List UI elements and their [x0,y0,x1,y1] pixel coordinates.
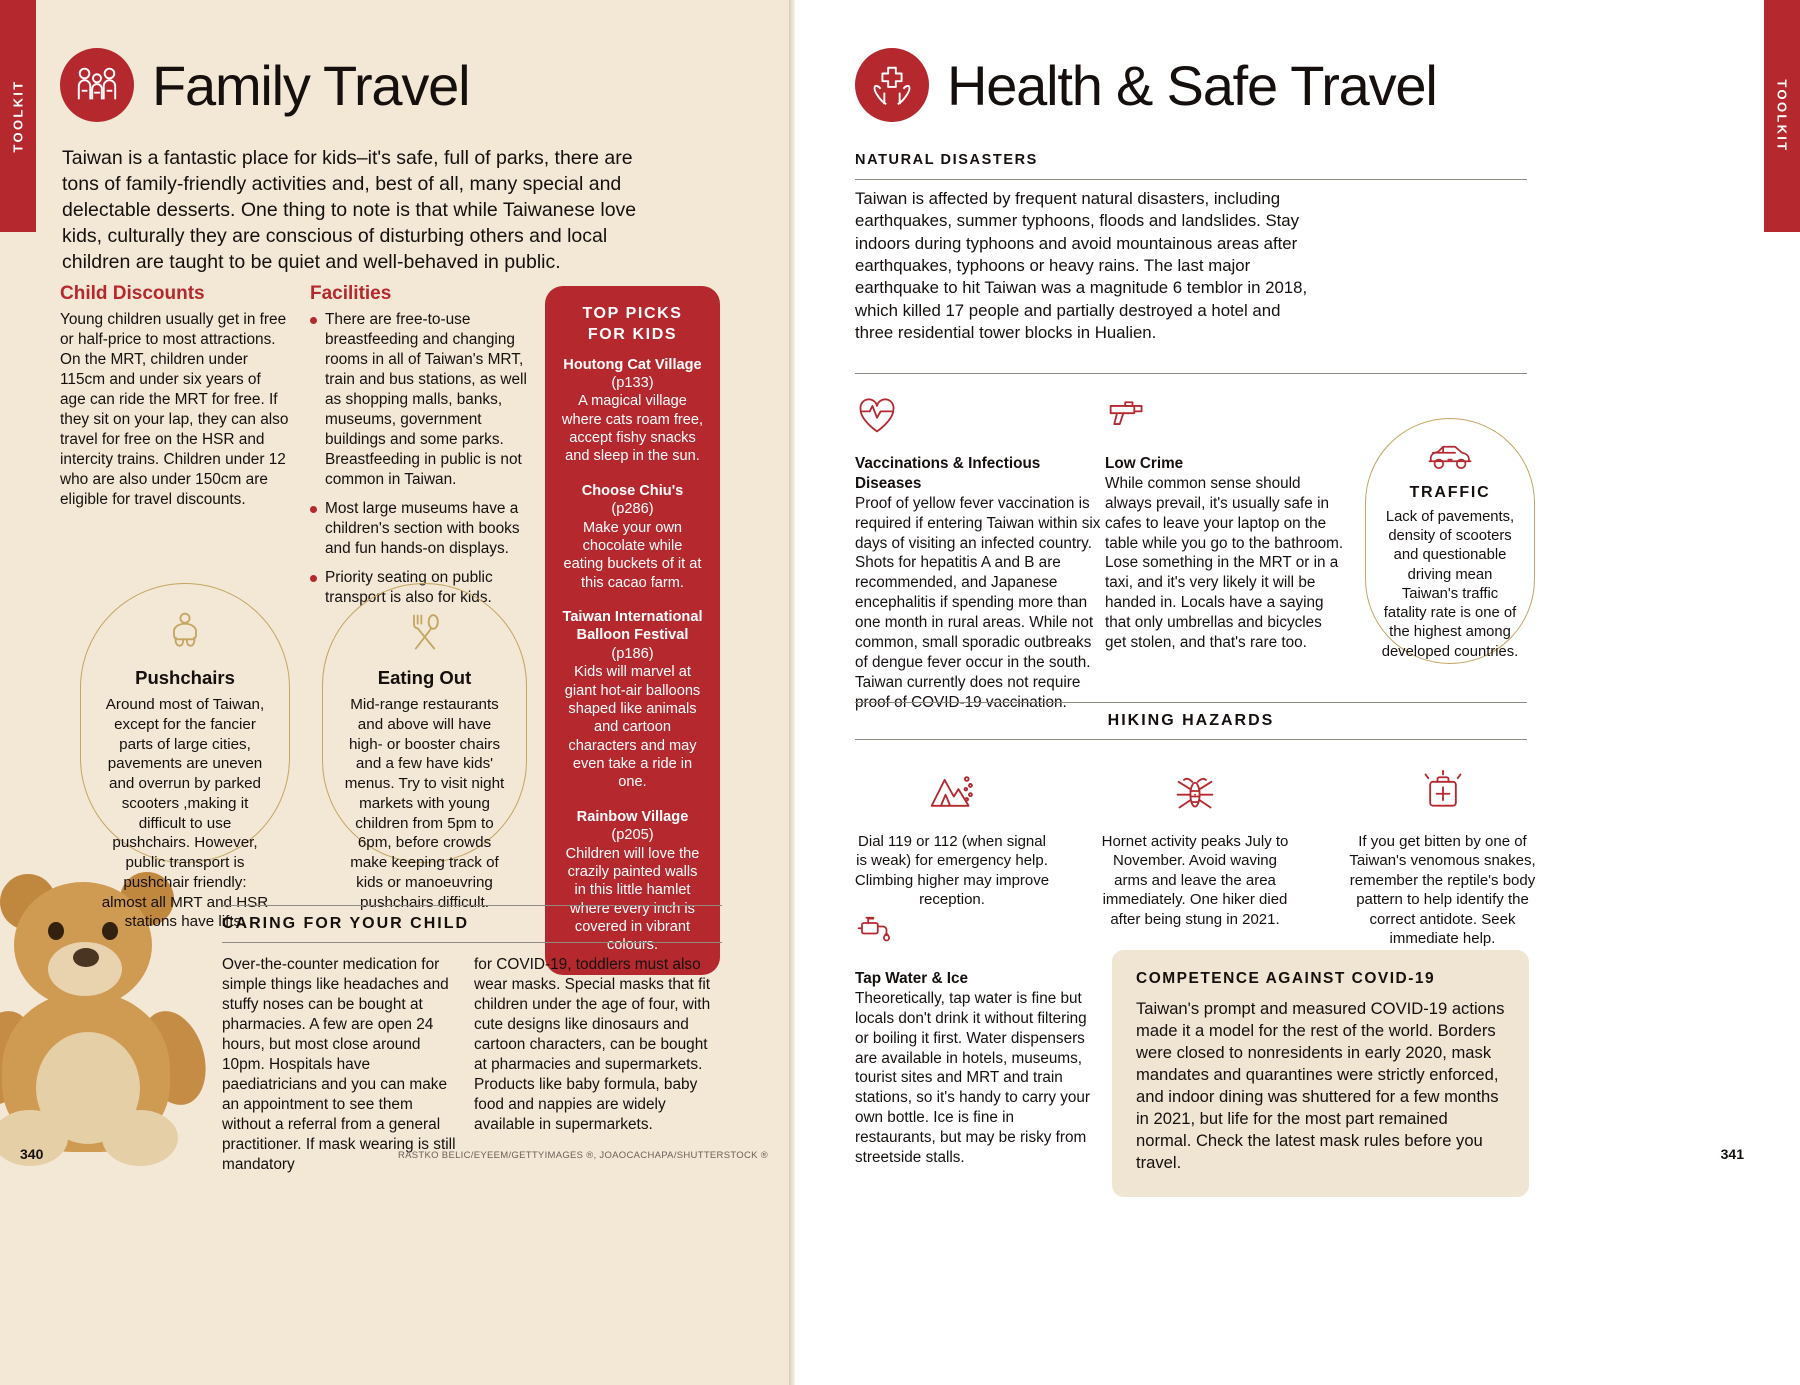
top-pick-page: (p205) [611,827,653,843]
natural-disasters-heading: NATURAL DISASTERS [855,152,1527,168]
low-crime-text: While common sense should always prevail… [1105,474,1347,653]
covid-box-text: Taiwan's prompt and measured COVID-19 ac… [1136,998,1505,1175]
photo-credit: RASTKO BELIC/EYEEM/GETTYIMAGES ®, JOAOCA… [398,1150,768,1161]
first-aid-alert-icon [1340,768,1545,820]
family-group-icon [60,48,134,122]
top-picks-heading: TOP PICKS FOR KIDS [561,304,704,346]
caring-heading: CARING FOR YOUR CHILD [222,906,722,942]
top-pick-item: Taiwan International Balloon Festival (p… [561,608,704,792]
toolkit-tab-right-label: TOOLKIT [1775,80,1790,153]
hiking-hazard-item: Hornet activity peaks July to November. … [1095,768,1295,929]
tap-water-text: Theoretically, tap water is fine but loc… [855,989,1091,1168]
pushchairs-card: Pushchairs Around most of Taiwan, except… [80,583,290,863]
top-picks-box: TOP PICKS FOR KIDS Houtong Cat Village (… [545,286,720,975]
divider [222,942,722,943]
low-crime-column: Low Crime While common sense should alwa… [1105,395,1347,653]
top-pick-text: Kids will marvel at giant hot-air balloo… [565,664,700,790]
landslide-mountain-icon [852,768,1052,820]
vaccinations-title: Vaccinations & Infectious Diseases [855,454,1101,494]
left-chapter-header: Family Travel [60,48,469,122]
low-crime-title: Low Crime [1105,454,1347,474]
caring-column-1: Over-the-counter medication for simple t… [222,955,457,1175]
natural-disasters-body: Taiwan is affected by frequent natural d… [855,188,1320,344]
child-discounts-section: Child Discounts Young children usually g… [60,283,290,510]
top-pick-page: (p286) [611,501,653,517]
tap-faucet-icon [855,910,1091,955]
left-intro-paragraph: Taiwan is a fantastic place for kids–it'… [62,146,674,276]
traffic-text: Lack of pavements, density of scooters a… [1380,508,1520,662]
right-page: TOOLKIT Health & Safe Travel NATURAL DIS… [795,0,1800,1385]
heartbeat-icon [855,395,1101,440]
hiking-heading: HIKING HAZARDS [855,703,1527,739]
toolkit-tab-right: TOOLKIT [1764,0,1800,232]
hiking-heading-block: HIKING HAZARDS [855,702,1527,740]
hiking-hazard-item: Dial 119 or 112 (when signal is weak) fo… [852,768,1052,910]
top-pick-name: Rainbow Village [577,809,689,825]
top-pick-text: Make your own chocolate while eating buc… [564,520,702,591]
fork-spoon-icon [341,610,508,659]
covid-callout-box: COMPETENCE AGAINST COVID-19 Taiwan's pro… [1112,950,1529,1197]
tap-water-section: Tap Water & Ice Theoretically, tap water… [855,910,1091,1168]
caring-column-2: for COVID-19, toddlers must also wear ma… [474,955,720,1135]
book-spread: TOOLKIT [0,0,1800,1385]
caring-heading-block: CARING FOR YOUR CHILD [222,905,722,943]
left-page: TOOLKIT [0,0,795,1385]
right-page-title: Health & Safe Travel [947,53,1437,118]
child-discounts-heading: Child Discounts [60,283,290,305]
water-gun-icon [1105,395,1347,440]
toolkit-tab-left: TOOLKIT [0,0,36,232]
top-pick-name: Choose Chiu's [582,483,684,499]
baby-icon [99,610,271,659]
car-icon [1380,441,1520,478]
facilities-section: Facilities There are free-to-use breastf… [310,283,528,617]
list-item: There are free-to-use breastfeeding and … [310,310,528,490]
top-pick-name: Houtong Cat Village [563,357,701,373]
pushchairs-text: Around most of Taiwan, except for the fa… [99,695,271,932]
top-pick-item: Houtong Cat Village (p133) A magical vil… [561,356,704,466]
hiking-hazard-item: If you get bitten by one of Taiwan's ven… [1340,768,1545,949]
eating-out-text: Mid-range restaurants and above will hav… [341,695,508,912]
hands-with-cross-icon [855,48,929,122]
divider [855,179,1527,180]
hiking-hazard-text: Dial 119 or 112 (when signal is weak) fo… [852,832,1052,910]
right-chapter-header: Health & Safe Travel [855,48,1437,122]
facilities-bullet-list: There are free-to-use breastfeeding and … [310,310,528,608]
hiking-hazard-text: If you get bitten by one of Taiwan's ven… [1340,832,1545,949]
facilities-heading: Facilities [310,283,528,305]
vaccinations-column: Vaccinations & Infectious Diseases Proof… [855,395,1101,712]
covid-box-heading: COMPETENCE AGAINST COVID-19 [1136,970,1505,988]
vaccinations-text: Proof of yellow fever vaccination is req… [855,494,1101,713]
top-pick-page: (p186) [611,646,653,662]
top-pick-page: (p133) [611,375,653,391]
pushchairs-title: Pushchairs [99,667,271,689]
traffic-title: TRAFFIC [1380,484,1520,502]
hornet-icon [1095,768,1295,820]
child-discounts-body: Young children usually get in free or ha… [60,310,290,510]
natural-disasters-heading-block: NATURAL DISASTERS [855,152,1527,180]
top-pick-name: Taiwan International Balloon Festival [562,609,702,643]
top-pick-item: Choose Chiu's (p286) Make your own choco… [561,482,704,592]
divider [855,739,1527,740]
eating-out-title: Eating Out [341,667,508,689]
left-page-title: Family Travel [152,53,469,118]
divider [855,373,1527,374]
tap-water-title: Tap Water & Ice [855,969,1091,989]
top-pick-text: A magical village where cats roam free, … [562,393,703,464]
traffic-card: TRAFFIC Lack of pavements, density of sc… [1365,418,1535,664]
list-item: Most large museums have a children's sec… [310,499,528,559]
page-number-right: 341 [1721,1146,1744,1162]
toolkit-tab-left-label: TOOLKIT [11,80,26,153]
hiking-hazard-text: Hornet activity peaks July to November. … [1095,832,1295,930]
page-number-left: 340 [20,1146,43,1162]
eating-out-card: Eating Out Mid-range restaurants and abo… [322,583,527,863]
